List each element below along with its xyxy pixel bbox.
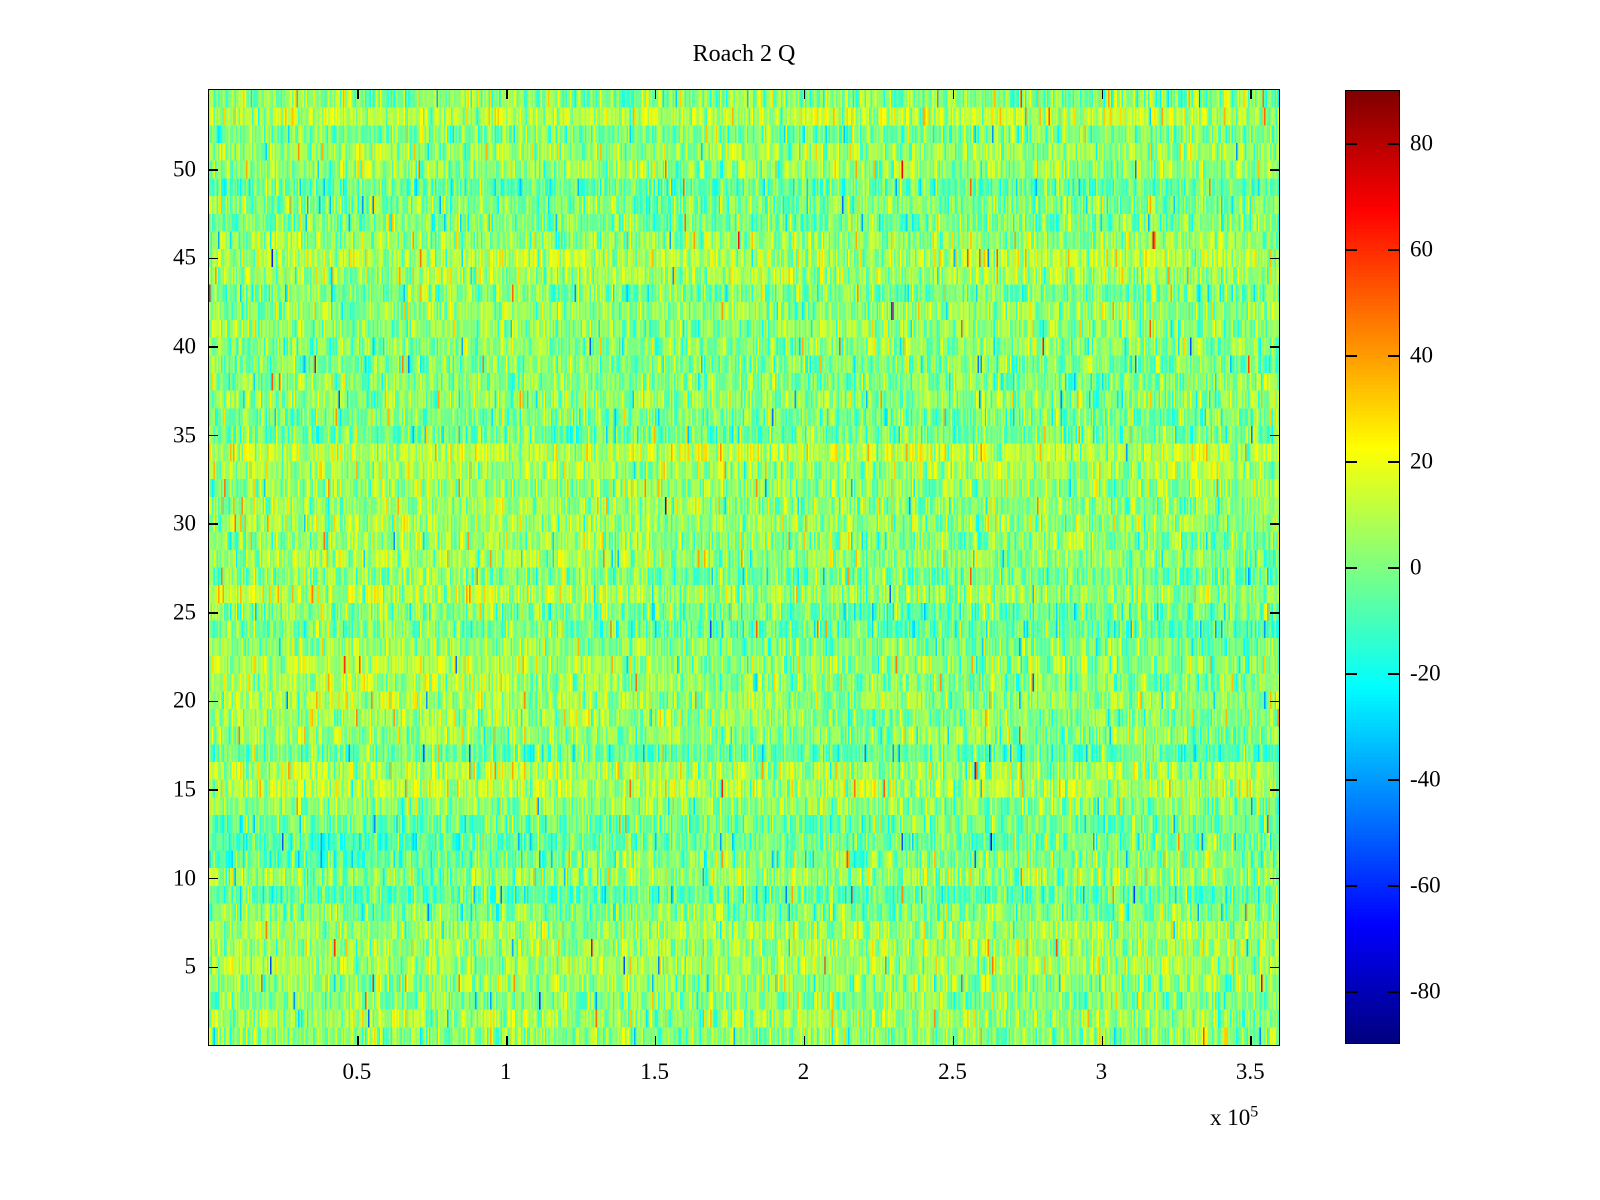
y-tick-label: 40 — [118, 334, 196, 357]
colorbar-tick-right — [1388, 991, 1399, 993]
x-exponent-power: 5 — [1250, 1103, 1258, 1120]
y-tick-left — [209, 346, 218, 348]
colorbar-tick-label: 80 — [1410, 132, 1433, 155]
y-tick-label: 20 — [118, 689, 196, 712]
colorbar-tick-left — [1346, 567, 1357, 569]
y-tick-right — [1270, 878, 1279, 880]
y-tick-label: 35 — [118, 423, 196, 446]
y-tick-label: 10 — [118, 866, 196, 889]
x-tick-bottom — [1250, 1036, 1252, 1045]
colorbar-tick-left — [1346, 779, 1357, 781]
colorbar-tick-label: 0 — [1410, 556, 1422, 579]
y-tick-right — [1270, 169, 1279, 171]
y-tick-left — [209, 701, 218, 703]
colorbar-tick-right — [1388, 355, 1399, 357]
y-tick-label: 5 — [118, 955, 196, 978]
colorbar-tick-label: -60 — [1410, 874, 1441, 897]
colorbar-tick-label: -80 — [1410, 980, 1441, 1003]
y-tick-left — [209, 169, 218, 171]
colorbar-tick-left — [1346, 143, 1357, 145]
y-tick-left — [209, 789, 218, 791]
y-tick-label: 30 — [118, 512, 196, 535]
x-tick-label: 3.5 — [1236, 1060, 1265, 1083]
colorbar-tick-right — [1388, 779, 1399, 781]
y-tick-label: 50 — [118, 157, 196, 180]
y-tick-label: 45 — [118, 246, 196, 269]
colorbar-tick-label: -40 — [1410, 768, 1441, 791]
y-tick-left — [209, 878, 218, 880]
x-tick-label: 1.5 — [640, 1060, 669, 1083]
colorbar-tick-left — [1346, 991, 1357, 993]
colorbar[interactable] — [1345, 90, 1400, 1044]
x-tick-label: 3 — [1096, 1060, 1108, 1083]
page-title: Roach 2 Q — [208, 42, 1280, 66]
y-tick-right — [1270, 346, 1279, 348]
x-tick-bottom — [1102, 1036, 1104, 1045]
colorbar-tick-label: 40 — [1410, 344, 1433, 367]
x-tick-top — [804, 90, 806, 99]
x-tick-bottom — [953, 1036, 955, 1045]
x-tick-top — [506, 90, 508, 99]
y-tick-left — [209, 612, 218, 614]
y-tick-right — [1270, 612, 1279, 614]
y-tick-right — [1270, 967, 1279, 969]
colorbar-tick-right — [1388, 885, 1399, 887]
colorbar-tick-left — [1346, 885, 1357, 887]
colorbar-tick-label: -20 — [1410, 662, 1441, 685]
x-tick-top — [1250, 90, 1252, 99]
colorbar-tick-right — [1388, 461, 1399, 463]
y-tick-left — [209, 435, 218, 437]
colorbar-tick-right — [1388, 567, 1399, 569]
colorbar-tick-right — [1388, 143, 1399, 145]
x-tick-bottom — [506, 1036, 508, 1045]
colorbar-tick-label: 60 — [1410, 238, 1433, 261]
y-tick-right — [1270, 435, 1279, 437]
y-tick-right — [1270, 523, 1279, 525]
x-tick-label: 2.5 — [938, 1060, 967, 1083]
x-tick-top — [655, 90, 657, 99]
y-tick-left — [209, 523, 218, 525]
x-tick-label: 1 — [500, 1060, 512, 1083]
x-tick-top — [1102, 90, 1104, 99]
x-tick-top — [953, 90, 955, 99]
y-tick-left — [209, 967, 218, 969]
colorbar-tick-left — [1346, 355, 1357, 357]
x-tick-bottom — [357, 1036, 359, 1045]
heatmap-axes[interactable] — [208, 89, 1280, 1046]
x-tick-bottom — [655, 1036, 657, 1045]
y-tick-right — [1270, 701, 1279, 703]
colorbar-tick-right — [1388, 673, 1399, 675]
y-tick-right — [1270, 789, 1279, 791]
colorbar-tick-left — [1346, 673, 1357, 675]
x-axis-exponent-label: x 105 — [1210, 1106, 1258, 1129]
heatmap-image — [209, 90, 1279, 1045]
x-exponent-base: x 10 — [1210, 1105, 1250, 1130]
x-tick-top — [357, 90, 359, 99]
figure-canvas: Roach 2 Q 0.511.522.533.5 51015202530354… — [0, 0, 1600, 1200]
x-tick-bottom — [804, 1036, 806, 1045]
y-tick-left — [209, 258, 218, 260]
colorbar-tick-left — [1346, 249, 1357, 251]
y-tick-right — [1270, 258, 1279, 260]
colorbar-tick-label: 20 — [1410, 450, 1433, 473]
colorbar-tick-left — [1346, 461, 1357, 463]
x-tick-label: 2 — [798, 1060, 810, 1083]
colorbar-tick-right — [1388, 249, 1399, 251]
y-tick-label: 25 — [118, 600, 196, 623]
x-tick-label: 0.5 — [343, 1060, 372, 1083]
y-tick-label: 15 — [118, 778, 196, 801]
